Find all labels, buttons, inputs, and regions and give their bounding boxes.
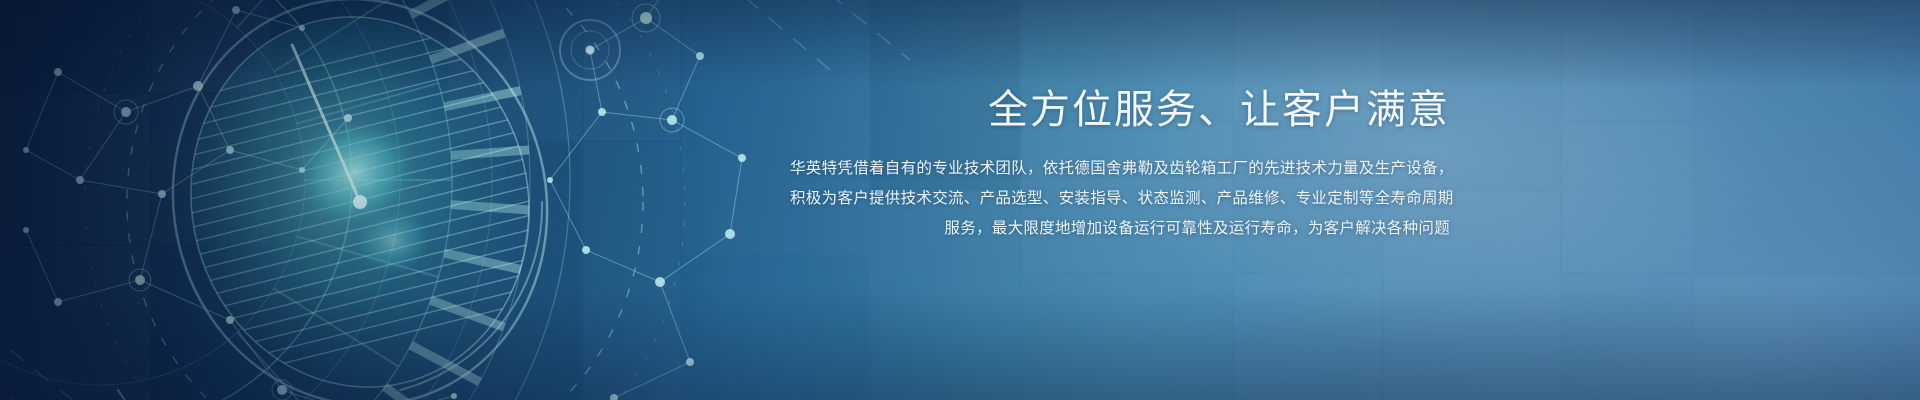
banner-headline: 全方位服务、让客户满意	[790, 84, 1450, 136]
banner-paragraph: 华英特凭借着自有的专业技术团队，依托德国舍弗勒及齿轮箱工厂的先进技术力量及生产设…	[790, 154, 1450, 244]
paragraph-line: 服务，最大限度地增加设备运行可靠性及运行寿命，为客户解决各种问题	[790, 214, 1450, 244]
banner-copy: 全方位服务、让客户满意 华英特凭借着自有的专业技术团队，依托德国舍弗勒及齿轮箱工…	[790, 84, 1450, 244]
paragraph-line: 积极为客户提供技术交流、产品选型、安装指导、状态监测、产品维修、专业定制等全寿命…	[790, 184, 1450, 214]
hero-banner: 全方位服务、让客户满意 华英特凭借着自有的专业技术团队，依托德国舍弗勒及齿轮箱工…	[0, 0, 1920, 400]
paragraph-line: 华英特凭借着自有的专业技术团队，依托德国舍弗勒及齿轮箱工厂的先进技术力量及生产设…	[790, 154, 1450, 184]
